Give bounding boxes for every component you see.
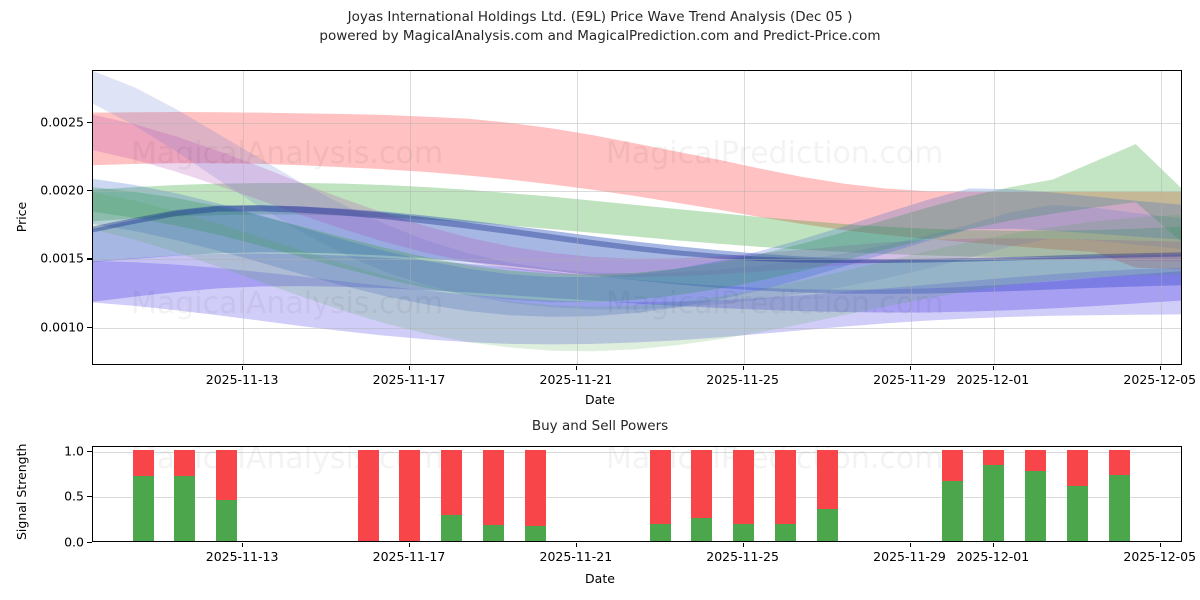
gridline-horizontal <box>93 328 1181 329</box>
signal-bar[interactable] <box>650 446 671 541</box>
signal-title-text: Buy and Sell Powers <box>0 418 1200 434</box>
signal-bar-layer <box>93 447 1181 541</box>
sell-power-segment <box>1109 450 1130 476</box>
x-tick-mark <box>409 543 410 547</box>
x-tick-label: 2025-11-21 <box>540 549 613 564</box>
x-tick-mark <box>409 366 410 370</box>
y-tick-label: 0.0020 <box>0 183 84 198</box>
x-tick-mark <box>743 543 744 547</box>
buy-power-segment <box>216 500 237 541</box>
signal-y-axis-title: Signal Strength <box>14 444 29 540</box>
gridline-vertical <box>994 71 995 364</box>
buy-power-segment <box>133 476 154 541</box>
buy-power-segment <box>650 524 671 541</box>
signal-bar[interactable] <box>775 446 796 541</box>
x-tick-label: 2025-11-25 <box>706 549 779 564</box>
x-tick-label: 2025-12-05 <box>1123 372 1196 387</box>
signal-bar[interactable] <box>691 446 712 541</box>
x-tick-label: 2025-11-29 <box>873 549 946 564</box>
price-chart-axes: MagicalAnalysis.comMagicalPrediction.com… <box>92 70 1182 365</box>
y-tick-mark <box>87 122 92 123</box>
price-x-tick-labels: 2025-11-132025-11-172025-11-212025-11-25… <box>92 366 1182 386</box>
x-tick-label: 2025-11-21 <box>540 372 613 387</box>
signal-bar[interactable] <box>399 446 420 541</box>
x-tick-mark <box>910 543 911 547</box>
sell-power-segment <box>775 450 796 524</box>
y-tick-mark <box>87 496 92 497</box>
chart-page: Joyas International Holdings Ltd. (E9L) … <box>0 0 1200 600</box>
gridline-horizontal <box>93 123 1181 124</box>
x-tick-label: 2025-12-05 <box>1123 549 1196 564</box>
buy-power-segment <box>942 481 963 541</box>
signal-bar[interactable] <box>483 446 504 541</box>
y-tick-label: 1.0 <box>0 443 84 458</box>
gridline-vertical <box>1161 71 1162 364</box>
signal-x-tick-labels: 2025-11-132025-11-172025-11-212025-11-25… <box>92 543 1182 563</box>
sell-power-segment <box>691 450 712 519</box>
signal-bar[interactable] <box>441 446 462 541</box>
signal-chart-title: Buy and Sell Powers <box>0 418 1200 434</box>
sell-power-segment <box>733 450 754 524</box>
signal-bar[interactable] <box>133 446 154 541</box>
x-tick-mark <box>993 543 994 547</box>
x-tick-mark <box>910 366 911 370</box>
signal-bar[interactable] <box>942 446 963 541</box>
buy-power-segment <box>441 515 462 541</box>
signal-bar[interactable] <box>216 446 237 541</box>
signal-bar[interactable] <box>817 446 838 541</box>
gridline-vertical <box>243 71 244 364</box>
price-y-axis-title: Price <box>14 202 29 233</box>
buy-power-segment <box>1067 486 1088 541</box>
x-tick-label: 2025-11-17 <box>373 372 446 387</box>
buy-power-segment <box>733 524 754 541</box>
sell-power-segment <box>399 450 420 541</box>
sell-power-segment <box>525 450 546 527</box>
sell-power-segment <box>133 450 154 477</box>
sell-power-segment <box>1025 450 1046 471</box>
x-tick-mark <box>576 543 577 547</box>
y-tick-mark <box>87 327 92 328</box>
price-x-axis-title: Date <box>0 392 1200 407</box>
x-tick-label: 2025-11-29 <box>873 372 946 387</box>
title-line-2: powered by MagicalAnalysis.com and Magic… <box>0 27 1200 46</box>
sell-power-segment <box>983 450 1004 466</box>
sell-power-segment <box>483 450 504 526</box>
buy-power-segment <box>775 524 796 541</box>
y-tick-label: 0.0025 <box>0 114 84 129</box>
x-tick-mark <box>242 366 243 370</box>
price-band-plot <box>93 71 1182 365</box>
signal-chart-axes: MagicalAnalysis.comMagicalPrediction.com… <box>92 446 1182 542</box>
buy-power-segment <box>483 525 504 541</box>
gridline-horizontal <box>93 191 1181 192</box>
x-tick-mark <box>1160 543 1161 547</box>
signal-x-axis-title: Date <box>0 571 1200 586</box>
x-tick-label: 2025-11-25 <box>706 372 779 387</box>
buy-power-segment <box>817 509 838 541</box>
sell-power-segment <box>942 450 963 481</box>
y-tick-label: 0.5 <box>0 489 84 504</box>
gridline-vertical <box>410 71 411 364</box>
buy-power-segment <box>525 526 546 541</box>
signal-bar[interactable] <box>525 446 546 541</box>
y-tick-mark <box>87 451 92 452</box>
x-tick-label: 2025-11-17 <box>373 549 446 564</box>
x-tick-mark <box>993 366 994 370</box>
y-tick-mark <box>87 190 92 191</box>
signal-bar[interactable] <box>733 446 754 541</box>
y-tick-label: 0.0010 <box>0 319 84 334</box>
signal-bar[interactable] <box>1067 446 1088 541</box>
y-tick-mark <box>87 258 92 259</box>
sell-power-segment <box>174 450 195 477</box>
sell-power-segment <box>1067 450 1088 487</box>
sell-power-segment <box>216 450 237 500</box>
sell-power-segment <box>817 450 838 509</box>
x-tick-label: 2025-11-13 <box>206 549 279 564</box>
gridline-horizontal <box>93 259 1181 260</box>
buy-power-segment <box>1025 471 1046 541</box>
buy-power-segment <box>174 476 195 541</box>
x-tick-label: 2025-11-13 <box>206 372 279 387</box>
sell-power-segment <box>650 450 671 524</box>
signal-bar[interactable] <box>1109 446 1130 541</box>
sell-power-segment <box>441 450 462 516</box>
x-tick-mark <box>242 543 243 547</box>
buy-power-segment <box>983 465 1004 541</box>
y-tick-label: 0.0015 <box>0 251 84 266</box>
buy-power-segment <box>1109 475 1130 541</box>
page-title: Joyas International Holdings Ltd. (E9L) … <box>0 8 1200 46</box>
buy-power-segment <box>691 518 712 541</box>
sell-power-segment <box>358 450 379 541</box>
gridline-vertical <box>577 71 578 364</box>
x-tick-mark <box>1160 366 1161 370</box>
signal-bar[interactable] <box>358 446 379 541</box>
x-tick-label: 2025-12-01 <box>957 372 1030 387</box>
title-line-1: Joyas International Holdings Ltd. (E9L) … <box>0 8 1200 27</box>
signal-bar[interactable] <box>174 446 195 541</box>
y-tick-label: 0.0 <box>0 535 84 550</box>
x-tick-mark <box>743 366 744 370</box>
signal-bar[interactable] <box>1025 446 1046 541</box>
gridline-vertical <box>911 71 912 364</box>
x-tick-label: 2025-12-01 <box>957 549 1030 564</box>
gridline-vertical <box>744 71 745 364</box>
x-tick-mark <box>576 366 577 370</box>
signal-bar[interactable] <box>983 446 1004 541</box>
